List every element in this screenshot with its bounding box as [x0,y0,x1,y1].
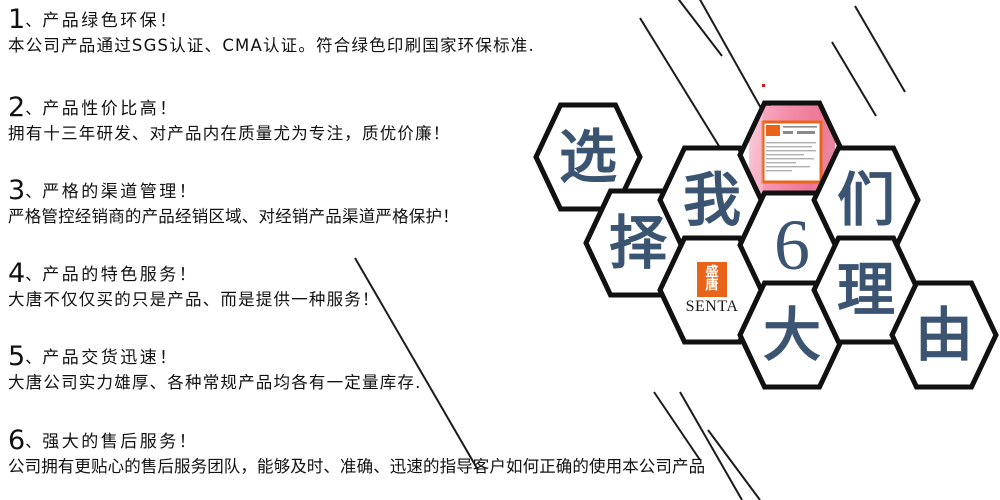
hex-label-you: 由 [889,280,999,390]
brand-name: SENTA [686,298,739,316]
brand-mark: 盛 唐 [697,262,727,297]
hexagon-hive: 选 择 我 盛 唐 SENTA [0,0,1000,500]
brand-mark-char-1: 盛 [699,266,725,279]
poster-root: 1、产品绿色环保！ 本公司产品通过SGS认证、CMA认证。符合绿色印刷国家环保标… [0,0,1000,500]
brand-mark-char-2: 唐 [699,279,725,292]
